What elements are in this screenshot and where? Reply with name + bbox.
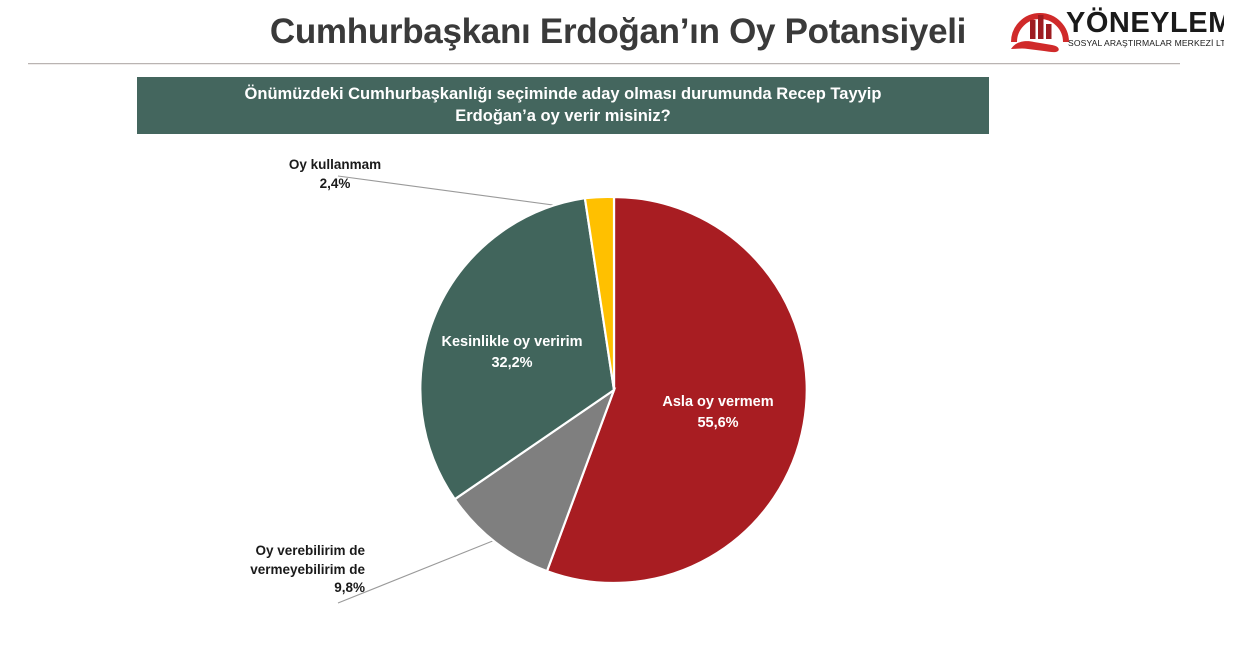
header-divider — [28, 63, 1180, 65]
yoneylem-logo: YÖNEYLEM SOSYAL ARAŞTIRMALAR MERKEZİ LTD… — [1006, 2, 1224, 54]
pie-label-oy-kullanmam: Oy kullanmam 2,4% — [250, 156, 420, 193]
logo-tagline: SOSYAL ARAŞTIRMALAR MERKEZİ LTD. ŞTİ. — [1068, 38, 1224, 48]
question-banner: Önümüzdeki Cumhurbaşkanlığı seçiminde ad… — [137, 77, 989, 134]
pie-label-oy-verebilirim: Oy verebilirim de vermeyebilirim de 9,8% — [155, 542, 365, 598]
question-banner-text: Önümüzdeki Cumhurbaşkanlığı seçiminde ad… — [231, 84, 896, 128]
hand-holding-bars-icon — [1011, 15, 1066, 52]
logo-wordmark: YÖNEYLEM — [1066, 6, 1224, 39]
pie-slices — [420, 197, 806, 583]
pie-chart: Oy kullanmam 2,4% Oy verebilirim de verm… — [0, 140, 1236, 646]
pie-label-kesinlikle-oy-veririm: Kesinlikle oy veririm 32,2% — [412, 332, 612, 374]
pie-label-asla-oy-vermem: Asla oy vermem 55,6% — [618, 392, 818, 434]
